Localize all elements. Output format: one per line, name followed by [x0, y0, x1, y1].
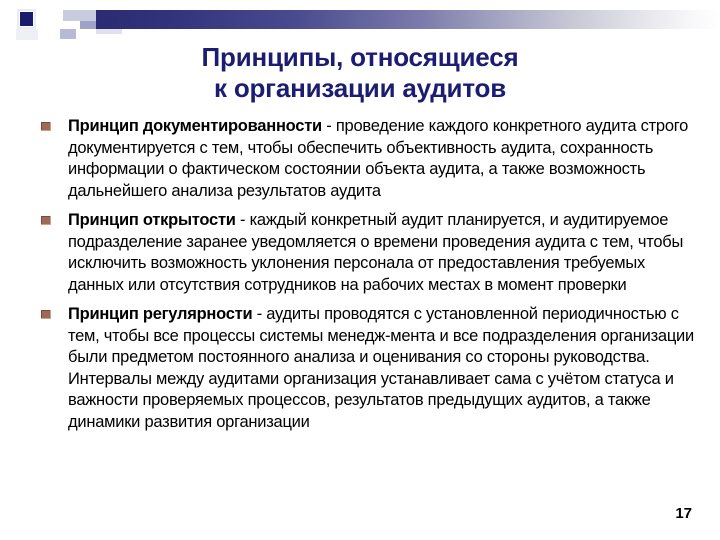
- list-item-lead: Принцип документированности: [68, 117, 322, 135]
- list-item-text: Принцип регулярности - аудиты проводятся…: [68, 304, 698, 433]
- bullet-square-icon: [41, 216, 51, 225]
- list-item: Принцип регулярности - аудиты проводятся…: [38, 304, 698, 433]
- list-item-text: Принцип открытости - каждый конкретный а…: [68, 210, 698, 296]
- list-item-rest: - аудиты проводятся с установленной пери…: [68, 305, 694, 431]
- bullet-square-icon: [41, 122, 51, 131]
- decoration-block-bluegray-e: [60, 29, 76, 39]
- bullet-list: Принцип документированности - проведение…: [38, 116, 698, 441]
- decoration-block-white-a: [42, 10, 63, 29]
- page-number: 17: [675, 505, 692, 522]
- decoration-square-navy-icon: [20, 12, 33, 26]
- decoration-block-bluegray-d: [80, 21, 96, 29]
- title-line-1: Принципы, относящиеся: [60, 42, 660, 73]
- list-item: Принцип открытости - каждый конкретный а…: [38, 210, 698, 296]
- decoration-block-light-left: [16, 29, 38, 40]
- list-item-text: Принцип документированности - проведение…: [68, 116, 698, 202]
- decoration-block-white-c: [63, 21, 80, 29]
- header-decoration: [0, 0, 720, 46]
- slide-canvas: Принципы, относящиеся к организации ауди…: [0, 0, 720, 540]
- decoration-block-white-f: [76, 29, 96, 39]
- list-item-lead: Принцип открытости: [68, 211, 236, 229]
- decoration-block-bluegray-b: [63, 10, 96, 21]
- list-item-lead: Принцип регулярности: [68, 305, 252, 323]
- decoration-block-bluegray-h: [96, 29, 122, 34]
- title-line-2: к организации аудитов: [60, 73, 660, 104]
- header-gradient-bar: [96, 10, 720, 29]
- bullet-square-icon: [41, 310, 51, 319]
- page-title: Принципы, относящиеся к организации ауди…: [60, 42, 660, 104]
- list-item: Принцип документированности - проведение…: [38, 116, 698, 202]
